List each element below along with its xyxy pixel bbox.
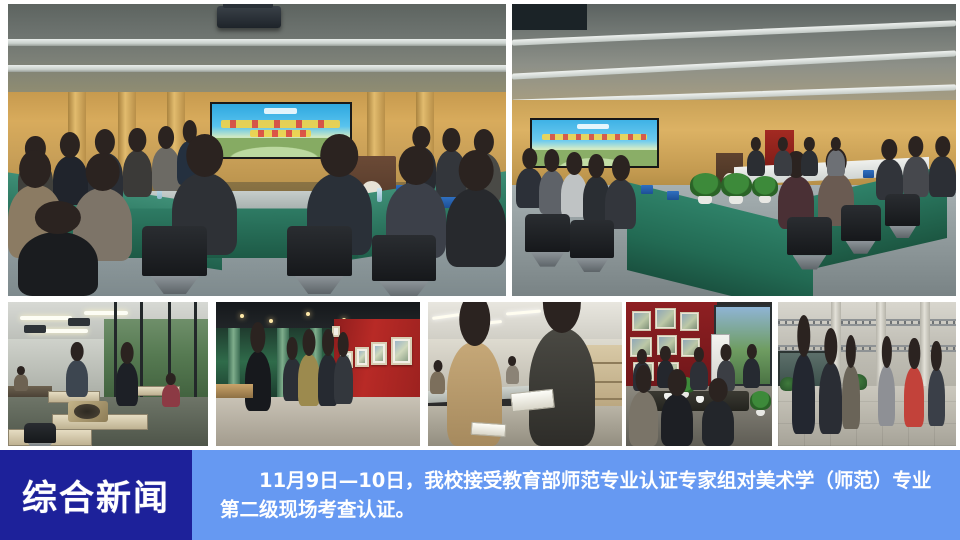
photo-campus-courtyard-visit[interactable] <box>778 302 956 446</box>
attendee <box>929 156 956 197</box>
category-label: 综合新闻 <box>22 470 170 521</box>
framed-painting <box>371 342 387 365</box>
framed-painting <box>355 347 369 367</box>
nameplate <box>667 191 679 200</box>
attendee <box>747 150 765 176</box>
attendee <box>152 147 179 191</box>
university-logo-icon <box>264 108 297 115</box>
student <box>162 384 180 407</box>
attendee <box>123 150 153 197</box>
coursework-paper <box>470 422 506 437</box>
photo-roundtable-discussion[interactable] <box>626 302 772 446</box>
photo-conference-hall-angle[interactable] <box>512 4 956 296</box>
photo-b1-scene <box>8 302 208 446</box>
visitor <box>66 360 88 397</box>
photo-b5-scene <box>778 302 956 446</box>
potted-plant <box>750 391 770 410</box>
attendee <box>774 150 792 176</box>
wall-monitor <box>512 4 587 30</box>
chair <box>787 217 831 255</box>
ceiling-lamp <box>20 316 72 320</box>
visitor <box>878 365 896 425</box>
ceiling-light-band <box>8 65 506 72</box>
visitor <box>904 367 924 427</box>
visitor <box>928 368 946 426</box>
category-block[interactable]: 综合新闻 <box>0 450 192 540</box>
caption-block: 11月9日—10日，我校接受教育部师范专业认证专家组对美术学（师范）专业第二级现… <box>192 450 960 540</box>
projector-icon <box>68 318 90 326</box>
attendee <box>903 156 930 197</box>
caption-text: 11月9日—10日，我校接受教育部师范专业认证专家组对美术学（师范）专业第二级现… <box>220 466 938 525</box>
potted-plant <box>752 176 779 196</box>
visitor <box>819 362 842 434</box>
reviewer-male <box>529 328 595 446</box>
nameplate <box>641 185 653 194</box>
photo-conference-hall-wide[interactable] <box>8 4 506 296</box>
ceiling-light-band <box>8 39 506 46</box>
screen-title-line-2 <box>250 130 311 137</box>
participant-foreground <box>702 400 734 446</box>
potted-plant <box>721 173 752 196</box>
potted-plant <box>690 173 721 196</box>
tea-cup <box>696 396 704 403</box>
attendee <box>827 150 845 176</box>
photo-b2-scene <box>216 302 420 446</box>
ceiling-lamp <box>84 311 128 315</box>
water-bottle <box>377 188 382 202</box>
visitor <box>334 355 352 404</box>
photo-craft-studio[interactable] <box>8 302 208 446</box>
round-artwork <box>74 404 100 418</box>
visitor <box>792 354 815 435</box>
participant <box>743 358 761 388</box>
visitor <box>116 362 138 405</box>
photo-art-gallery[interactable] <box>216 302 420 446</box>
spotlight <box>306 312 310 316</box>
photo-tr-scene <box>512 4 956 296</box>
attendee-foreground <box>446 188 506 267</box>
gallery-bench <box>216 384 253 398</box>
photo-b3-scene <box>428 302 622 446</box>
visitor <box>298 354 320 406</box>
visitor <box>842 365 860 428</box>
screen-title <box>542 134 647 140</box>
news-collage-page: 综合新闻 11月9日—10日，我校接受教育部师范专业认证专家组对美术学（师范）专… <box>0 0 960 540</box>
participant-foreground <box>661 394 693 446</box>
projector-icon <box>24 325 46 333</box>
participant-foreground <box>629 391 658 446</box>
university-logo-icon <box>577 124 609 130</box>
student-background <box>506 365 520 384</box>
participant <box>690 361 708 390</box>
framed-painting <box>391 337 411 366</box>
chair <box>525 214 569 252</box>
screen-title-line-1 <box>221 120 340 128</box>
chair <box>372 235 437 282</box>
wall-photo <box>655 308 675 330</box>
visitor <box>245 351 272 411</box>
student-background <box>430 371 446 394</box>
photo-b4-scene <box>626 302 772 446</box>
chair <box>287 226 352 276</box>
photo-collage <box>0 0 960 450</box>
photo-reviewing-coursework[interactable] <box>428 302 622 446</box>
wall-photo <box>680 312 699 331</box>
chair <box>570 220 614 258</box>
student <box>14 374 28 391</box>
stool <box>24 423 56 443</box>
projector-icon <box>217 6 281 28</box>
wall-photo <box>632 311 651 331</box>
chair <box>885 194 921 226</box>
caption-bar: 综合新闻 11月9日—10日，我校接受教育部师范专业认证专家组对美术学（师范）专… <box>0 450 960 540</box>
chair <box>142 226 207 276</box>
photo-tl-scene <box>8 4 506 296</box>
attendee <box>801 150 819 176</box>
nameplate <box>863 170 874 178</box>
chair <box>841 205 881 240</box>
attendee-foreground <box>18 232 98 296</box>
